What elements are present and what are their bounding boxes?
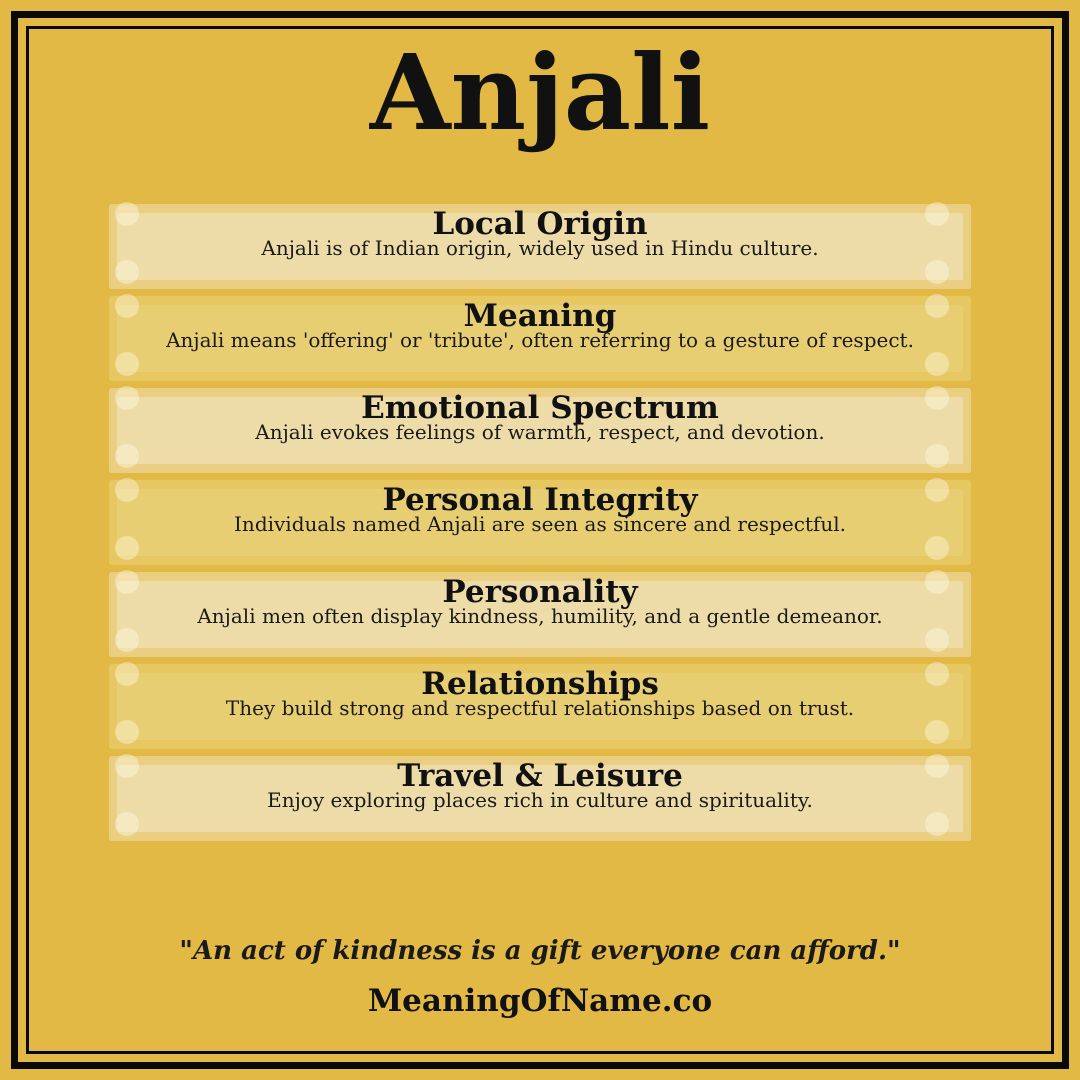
list-item: Personal Integrity Individuals named Anj… <box>109 480 971 565</box>
poster-canvas: Anjali Local Origin Anjali is of Indian … <box>0 0 1080 1080</box>
card-panel: Emotional Spectrum Anjali evokes feeling… <box>117 397 963 464</box>
footer-quote: "An act of kindness is a gift everyone c… <box>0 936 1080 966</box>
section-description: Anjali means 'offering' or 'tribute', of… <box>117 330 963 350</box>
section-description: They build strong and respectful relatio… <box>117 698 963 718</box>
section-description: Enjoy exploring places rich in culture a… <box>117 790 963 810</box>
list-item: Travel & Leisure Enjoy exploring places … <box>109 756 971 841</box>
section-description: Anjali evokes feelings of warmth, respec… <box>117 422 963 442</box>
footer-brand: MeaningOfName.co <box>0 983 1080 1019</box>
section-description: Individuals named Anjali are seen as sin… <box>117 514 963 534</box>
section-description: Anjali men often display kindness, humil… <box>117 606 963 626</box>
list-item: Personality Anjali men often display kin… <box>109 572 971 657</box>
list-item: Relationships They build strong and resp… <box>109 664 971 749</box>
card-panel: Relationships They build strong and resp… <box>117 673 963 740</box>
card-panel: Personality Anjali men often display kin… <box>117 581 963 648</box>
card-panel: Meaning Anjali means 'offering' or 'trib… <box>117 305 963 372</box>
list-item: Meaning Anjali means 'offering' or 'trib… <box>109 296 971 381</box>
section-description: Anjali is of Indian origin, widely used … <box>117 238 963 258</box>
sections-list: Local Origin Anjali is of Indian origin,… <box>0 204 1080 848</box>
card-panel: Personal Integrity Individuals named Anj… <box>117 489 963 556</box>
list-item: Emotional Spectrum Anjali evokes feeling… <box>109 388 971 473</box>
page-title: Anjali <box>0 38 1080 147</box>
card-panel: Travel & Leisure Enjoy exploring places … <box>117 765 963 832</box>
list-item: Local Origin Anjali is of Indian origin,… <box>109 204 971 289</box>
card-panel: Local Origin Anjali is of Indian origin,… <box>117 213 963 280</box>
